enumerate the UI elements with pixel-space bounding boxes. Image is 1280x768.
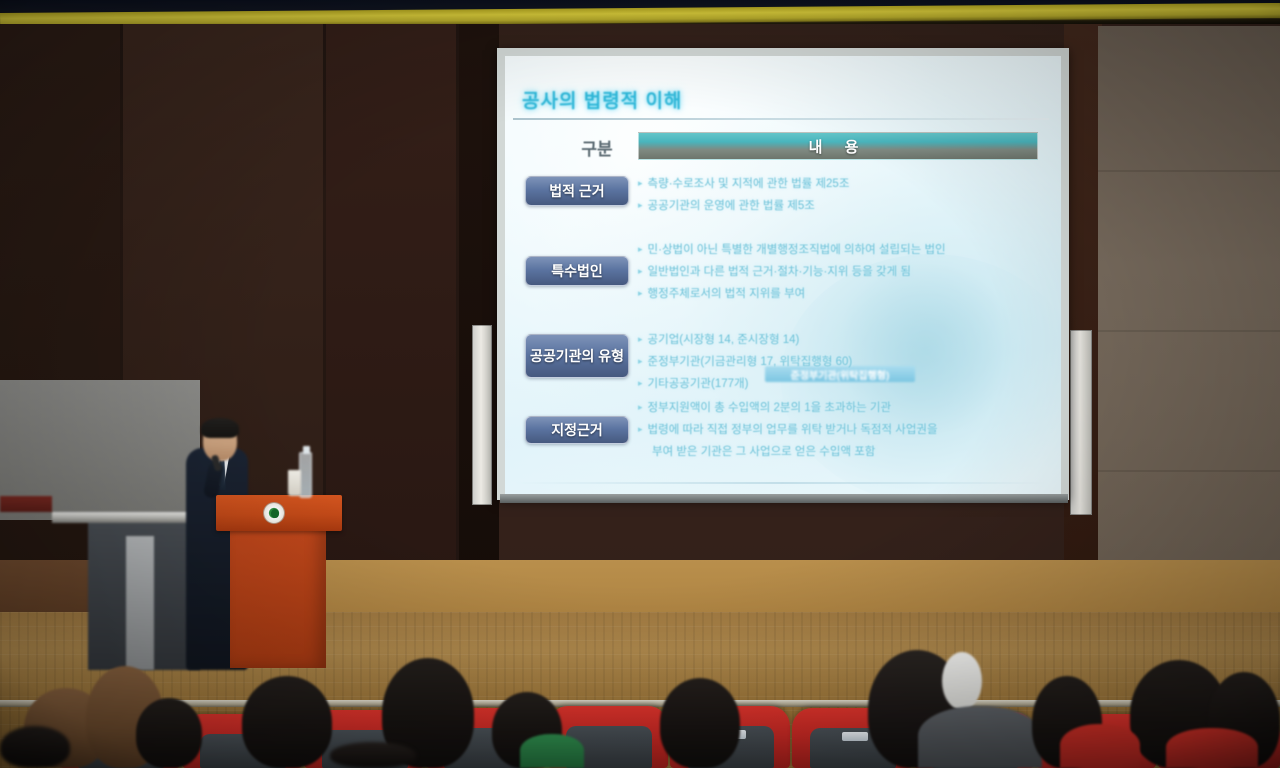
lecture-hall-scene: 공사의 법령적 이해 구분 내 용 법적 근거 측량·수로조사 및 지적에 관한… <box>0 0 1280 768</box>
white-cap-icon <box>942 652 982 710</box>
podium-body <box>230 508 326 668</box>
row-label-designation-basis: 지정근거 <box>525 416 629 444</box>
bullet-item: 일반법인과 다른 법적 근거·절차·기능·지위 등을 갖게 됨 <box>638 262 946 284</box>
wall-right-seam-1 <box>1098 170 1280 172</box>
row-label-special-corporation: 특수법인 <box>525 256 629 286</box>
audience-head <box>660 678 740 768</box>
slide-bottom-rule <box>515 482 1049 484</box>
bullet-item: 민·상법이 아닌 특별한 개별행정조직법에 의하여 설립되는 법인 <box>638 240 946 262</box>
wall-right-seam-2 <box>1098 330 1280 332</box>
seat-number-tag <box>842 732 868 741</box>
wall-right-field <box>1098 26 1280 626</box>
bullet-item: 공공기관의 운영에 관한 법률 제5조 <box>638 196 849 218</box>
bullet-item: 측량·수로조사 및 지적에 관한 법률 제25조 <box>638 174 849 196</box>
bullet-item: 준정부기관(기금관리형 17, 위탁집행형 60) <box>638 352 852 374</box>
table-header-content: 내 용 <box>638 132 1038 160</box>
row-bullets-public-institution-types: 공기업(시장형 14, 준시장형 14) 준정부기관(기금관리형 17, 위탁집… <box>638 330 852 396</box>
row-bullets-legal-basis: 측량·수로조사 및 지적에 관한 법률 제25조 공공기관의 운영에 관한 법률… <box>638 174 849 218</box>
bullet-item: 정부지원액이 총 수입액의 2분의 1을 초과하는 기관 <box>638 398 938 420</box>
wall-panel-screen-right <box>1064 24 1102 624</box>
row-label-public-institution-types: 공공기관의 유형 <box>525 334 629 378</box>
row-label-legal-basis: 법적 근거 <box>525 176 629 206</box>
wall-panel-3 <box>326 24 456 624</box>
side-desk-book <box>0 496 52 512</box>
side-desk-top <box>52 512 207 523</box>
paper-cup-icon <box>288 470 301 496</box>
audience-shoulder <box>1060 724 1140 768</box>
presentation-slide: 공사의 법령적 이해 구분 내 용 법적 근거 측량·수로조사 및 지적에 관한… <box>505 56 1061 494</box>
audience-head <box>136 698 202 768</box>
slide-title: 공사의 법령적 이해 <box>522 86 682 113</box>
podium-emblem-icon <box>263 502 285 524</box>
speaker-hair <box>201 418 239 438</box>
slide-title-divider <box>513 118 1049 120</box>
wall-light-strip-left <box>472 325 492 505</box>
wall-panel-screen-left <box>459 24 499 624</box>
audience-shoulder <box>520 734 584 768</box>
table-header-category: 구분 <box>549 135 645 160</box>
row-bullets-special-corporation: 민·상법이 아닌 특별한 개별행정조직법에 의하여 설립되는 법인 일반법인과 … <box>638 240 946 306</box>
audience-head <box>242 676 332 768</box>
projection-screen-bottom-bar <box>500 494 1068 503</box>
audience-shoulder <box>918 706 1042 768</box>
bullet-item: 기타공공기관(177개) <box>638 374 852 396</box>
audience-shoulder <box>1166 728 1258 768</box>
wall-right-seam-3 <box>1098 470 1280 472</box>
wall-light-strip-right <box>1070 330 1092 515</box>
audience-head-foreground <box>0 726 70 768</box>
bullet-item: 법령에 따라 직접 정부의 업무를 위탁 받거나 독점적 사업권을 <box>638 420 938 442</box>
bullet-item: 행정주체로서의 법적 지위를 부여 <box>638 284 946 306</box>
bullet-item: 공기업(시장형 14, 준시장형 14) <box>638 330 852 352</box>
side-desk-leg <box>126 536 154 670</box>
audience-head-foreground <box>330 742 416 768</box>
row-bullets-designation-basis: 정부지원액이 총 수입액의 2분의 1을 초과하는 기관 법령에 따라 직접 정… <box>638 398 938 464</box>
bullet-item-continuation: 부여 받은 기관은 그 사업으로 얻은 수입액 포함 <box>638 442 938 464</box>
